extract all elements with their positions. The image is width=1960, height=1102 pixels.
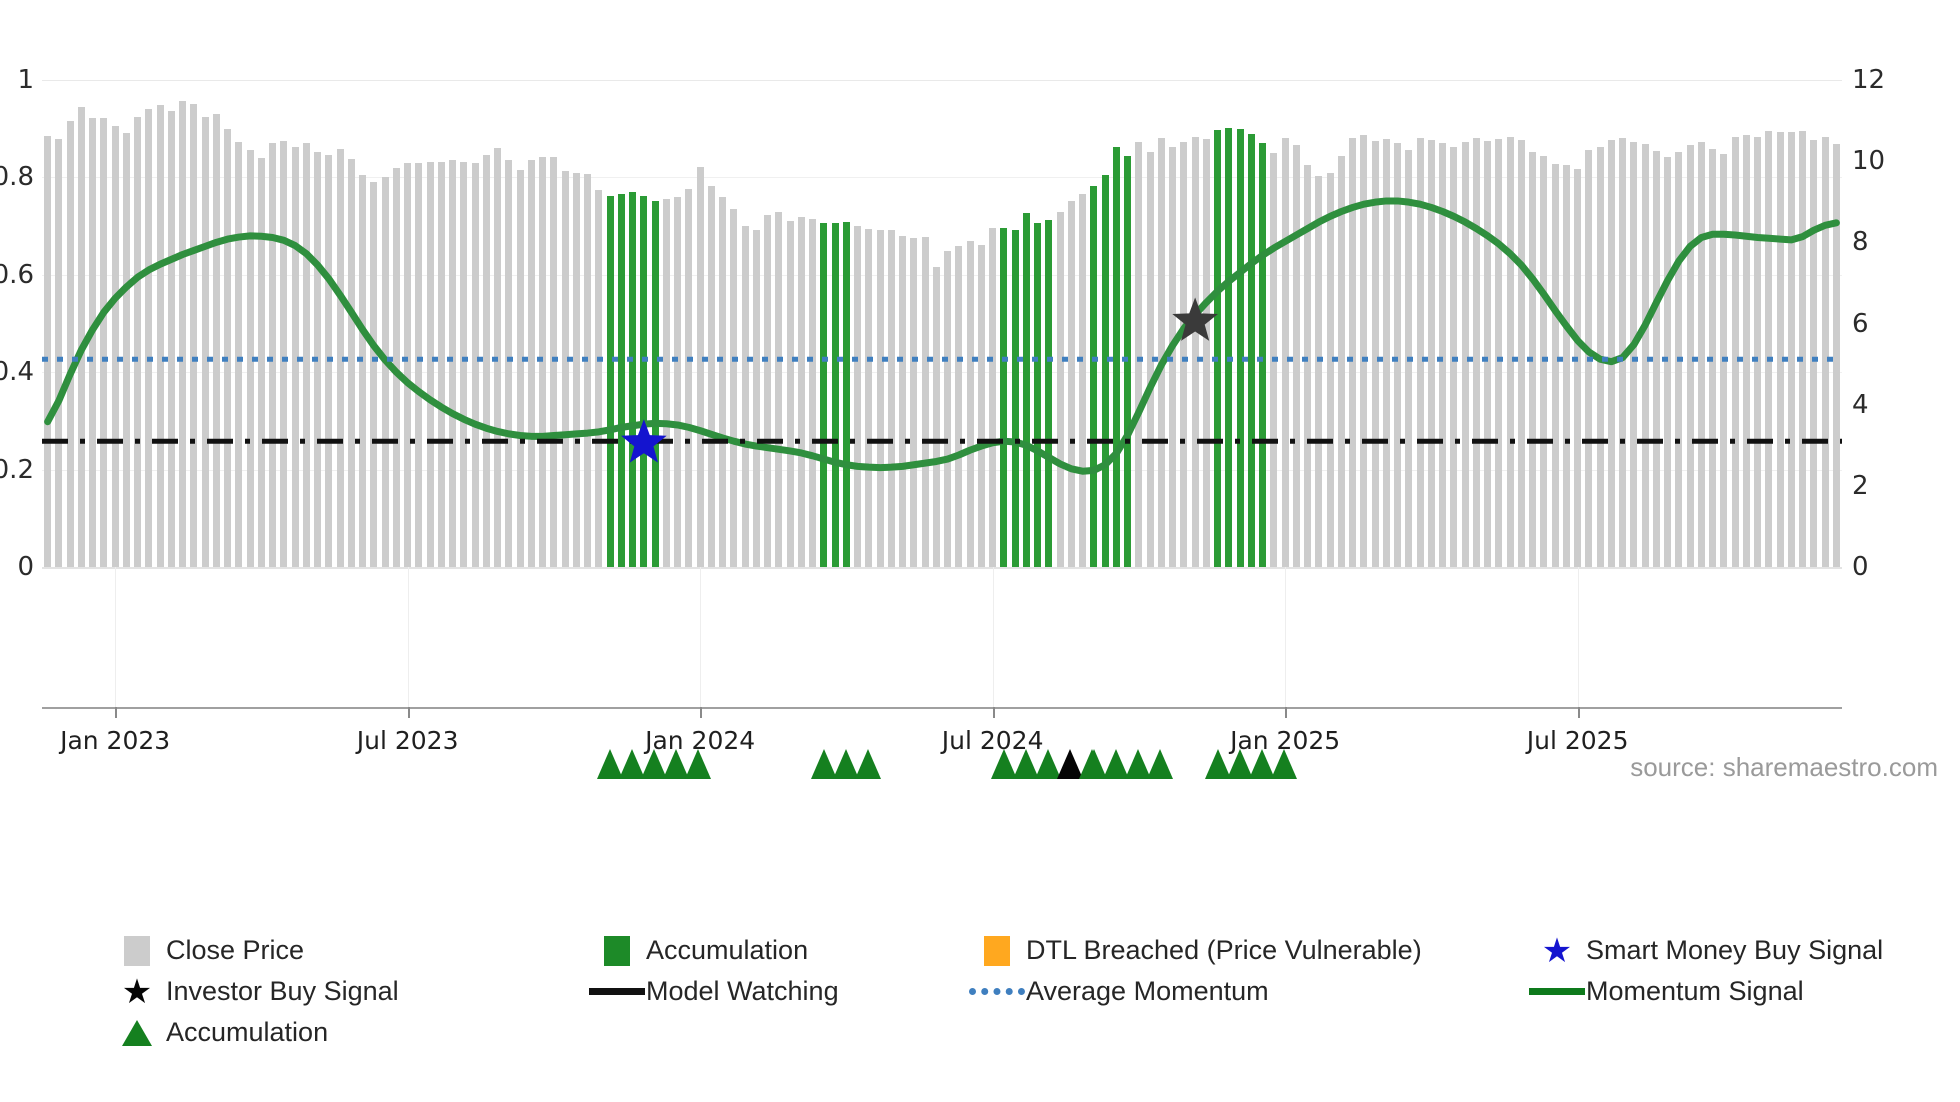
bar-accumulation	[607, 196, 614, 567]
bar-accumulation	[1214, 130, 1221, 567]
legend-item-investor-buy[interactable]: ★ Investor Buy Signal	[108, 971, 399, 1012]
axis-baseline	[42, 567, 1842, 569]
vertical-gridline	[993, 567, 994, 707]
bar-close-price	[573, 173, 580, 567]
bar-close-price	[1642, 144, 1649, 567]
bar-close-price	[674, 197, 681, 567]
bar-close-price	[78, 107, 85, 567]
bar-close-price	[325, 155, 332, 567]
bar-close-price	[1585, 150, 1592, 567]
star-icon: ★	[1528, 934, 1586, 968]
bar-close-price	[685, 189, 692, 567]
bar-close-price	[989, 228, 996, 567]
bar-close-price	[1417, 138, 1424, 567]
bar-close-price	[179, 101, 186, 567]
bar-close-price	[1293, 145, 1300, 567]
bar-close-price	[472, 163, 479, 567]
bar-close-price	[1698, 142, 1705, 567]
bar-close-price	[1630, 142, 1637, 567]
bar-close-price	[1169, 147, 1176, 567]
bar-close-price	[865, 229, 872, 567]
accumulation-triangle-marker	[855, 749, 881, 779]
bar-accumulation	[1012, 230, 1019, 567]
bar-close-price	[1360, 135, 1367, 567]
triangle-icon	[108, 1020, 166, 1046]
bar-close-price	[314, 152, 321, 567]
bar-close-price	[1057, 212, 1064, 567]
bar-close-price	[280, 141, 287, 567]
legend-label: Accumulation	[166, 1017, 328, 1048]
bar-close-price	[404, 163, 411, 567]
bar-close-price	[550, 157, 557, 567]
bar-accumulation	[1090, 186, 1097, 567]
bar-accumulation	[1023, 213, 1030, 567]
bar-close-price	[978, 245, 985, 567]
bar-close-price	[1327, 173, 1334, 567]
bar-close-price	[1180, 142, 1187, 567]
square-icon	[588, 936, 646, 966]
bar-accumulation	[1124, 156, 1131, 567]
bar-close-price	[730, 209, 737, 567]
bar-close-price	[427, 162, 434, 567]
bar-close-price	[787, 221, 794, 567]
vertical-gridline	[408, 567, 409, 707]
bar-close-price	[1732, 137, 1739, 567]
bar-close-price	[1462, 142, 1469, 567]
bar-close-price	[224, 129, 231, 567]
x-tick-label: Jul 2023	[357, 726, 459, 755]
accumulation-triangle-marker	[1147, 749, 1173, 779]
bar-close-price	[1563, 165, 1570, 567]
bar-close-price	[1192, 137, 1199, 568]
bar-accumulation	[1113, 147, 1120, 567]
bar-close-price	[798, 217, 805, 567]
bar-close-price	[1574, 169, 1581, 567]
y-tick-left: 0	[0, 552, 34, 582]
accumulation-marker-group	[811, 745, 881, 779]
x-tick	[408, 707, 410, 718]
bar-close-price	[742, 226, 749, 567]
bar-close-price	[134, 117, 141, 567]
bar-close-price	[393, 168, 400, 567]
x-tick-label: Jan 2024	[645, 726, 755, 755]
bar-close-price	[168, 111, 175, 567]
bar-close-price	[460, 162, 467, 567]
x-axis-line	[42, 707, 1842, 709]
bar-close-price	[944, 251, 951, 567]
bar-close-price	[157, 105, 164, 567]
bar-close-price	[1799, 131, 1806, 567]
bar-close-price	[100, 118, 107, 567]
dashed-line-icon	[588, 988, 646, 995]
legend-label: DTL Breached (Price Vulnerable)	[1026, 935, 1422, 966]
bar-close-price	[1810, 140, 1817, 567]
bar-close-price	[44, 136, 51, 567]
plot-area	[42, 80, 1842, 567]
bar-close-price	[449, 160, 456, 567]
bar-accumulation	[1000, 228, 1007, 567]
accumulation-marker-group	[1081, 745, 1173, 779]
x-tick	[993, 707, 995, 718]
bar-close-price	[483, 155, 490, 567]
bar-close-price	[1383, 139, 1390, 567]
bar-close-price	[1068, 201, 1075, 567]
bar-close-price	[1079, 194, 1086, 567]
bar-close-price	[1743, 135, 1750, 567]
bar-close-price	[1518, 140, 1525, 567]
bar-close-price	[337, 149, 344, 567]
bar-close-price	[539, 157, 546, 567]
bar-close-price	[190, 104, 197, 567]
legend-label: Close Price	[166, 935, 304, 966]
bar-close-price	[292, 147, 299, 567]
bar-close-price	[1372, 141, 1379, 567]
bar-accumulation	[652, 201, 659, 567]
bar-close-price	[955, 246, 962, 567]
vertical-gridline	[700, 567, 701, 707]
bar-close-price	[1608, 140, 1615, 567]
legend-item-smart-money[interactable]: ★ Smart Money Buy Signal	[1528, 930, 1883, 971]
y-tick-left: 0.4	[0, 357, 34, 387]
bar-close-price	[1203, 139, 1210, 567]
legend-item-accumulation-bar[interactable]: Accumulation	[588, 930, 808, 971]
y-tick-right: 6	[1852, 309, 1960, 339]
x-tick-label: Jan 2025	[1230, 726, 1340, 755]
x-tick	[1578, 707, 1580, 718]
bar-close-price	[1709, 149, 1716, 567]
bar-close-price	[258, 158, 265, 567]
bar-close-price	[595, 190, 602, 567]
star-icon: ★	[108, 975, 166, 1009]
y-tick-left: 0.6	[0, 260, 34, 290]
bar-close-price	[1428, 140, 1435, 567]
bar-accumulation	[1225, 128, 1232, 567]
bar-close-price	[55, 139, 62, 567]
y-tick-right: 10	[1852, 146, 1960, 176]
bar-close-price	[899, 236, 906, 567]
x-tick-label: Jan 2023	[60, 726, 170, 755]
bar-close-price	[123, 133, 130, 567]
bar-close-price	[877, 230, 884, 567]
bar-close-price	[1754, 137, 1761, 568]
bar-accumulation	[820, 223, 827, 567]
bar-close-price	[1720, 154, 1727, 567]
bar-close-price	[697, 167, 704, 567]
bar-close-price	[1439, 143, 1446, 567]
bar-close-price	[1315, 176, 1322, 567]
bar-close-price	[753, 230, 760, 567]
bar-close-price	[663, 199, 670, 567]
bar-close-price	[269, 143, 276, 567]
bar-close-price	[922, 237, 929, 567]
square-icon	[968, 936, 1026, 966]
y-tick-right: 8	[1852, 227, 1960, 257]
bar-close-price	[247, 150, 254, 567]
legend-item-model-watching[interactable]: Model Watching	[588, 971, 839, 1012]
x-tick	[1285, 707, 1287, 718]
bar-close-price	[1495, 139, 1502, 567]
y-tick-right: 12	[1852, 65, 1960, 95]
bar-close-price	[584, 174, 591, 567]
bar-close-price	[967, 241, 974, 567]
bar-close-price	[494, 148, 501, 567]
bar-accumulation	[843, 222, 850, 567]
vertical-gridline	[1578, 567, 1579, 707]
y-tick-right: 2	[1852, 471, 1960, 501]
bar-close-price	[517, 170, 524, 567]
bar-close-price	[1484, 141, 1491, 567]
bar-close-price	[235, 142, 242, 567]
chart-legend: Close Price Accumulation DTL Breached (P…	[108, 930, 1908, 1053]
bar-close-price	[370, 182, 377, 567]
bar-close-price	[1270, 153, 1277, 567]
bar-close-price	[809, 219, 816, 567]
bar-close-price	[1304, 165, 1311, 567]
bar-close-price	[1552, 164, 1559, 567]
dotted-line-icon	[968, 988, 1026, 995]
bar-close-price	[910, 238, 917, 567]
bar-accumulation	[1248, 134, 1255, 567]
bar-close-price	[382, 177, 389, 567]
bar-accumulation	[1259, 143, 1266, 567]
bar-close-price	[1529, 152, 1536, 567]
legend-label: Smart Money Buy Signal	[1586, 935, 1883, 966]
bar-close-price	[1349, 138, 1356, 567]
legend-label: Average Momentum	[1026, 976, 1269, 1007]
bar-close-price	[359, 175, 366, 567]
bar-close-price	[888, 230, 895, 567]
bar-close-price	[1282, 138, 1289, 567]
x-tick	[700, 707, 702, 718]
bar-close-price	[1135, 142, 1142, 567]
vertical-gridline	[1285, 567, 1286, 707]
bar-close-price	[1765, 131, 1772, 567]
y-tick-left: 0.2	[0, 455, 34, 485]
bar-close-price	[145, 109, 152, 567]
legend-item-accumulation-marker[interactable]: Accumulation	[108, 1012, 328, 1053]
bar-close-price	[1675, 152, 1682, 567]
bar-close-price	[1338, 156, 1345, 568]
bar-close-price	[213, 114, 220, 567]
legend-item-average-momentum[interactable]: Average Momentum	[968, 971, 1269, 1012]
bar-close-price	[1822, 137, 1829, 568]
chart-root: 10.80.60.40.20 121086420 Jan 2023Jul 202…	[0, 0, 1960, 1102]
bar-accumulation	[1237, 129, 1244, 567]
bar-close-price	[67, 121, 74, 567]
x-tick	[115, 707, 117, 718]
bar-close-price	[1619, 138, 1626, 567]
bar-close-price	[1597, 147, 1604, 567]
bar-close-price	[505, 160, 512, 567]
solid-line-icon	[1528, 988, 1586, 995]
y-tick-left: 1	[0, 65, 34, 95]
bar-accumulation	[618, 194, 625, 567]
bar-close-price	[1147, 152, 1154, 567]
bar-accumulation	[640, 196, 647, 567]
bar-series	[42, 80, 1842, 567]
square-icon	[108, 936, 166, 966]
bar-close-price	[854, 226, 861, 567]
vertical-gridline	[115, 567, 116, 707]
bar-close-price	[348, 159, 355, 567]
bar-close-price	[1507, 137, 1514, 568]
bar-accumulation	[1034, 223, 1041, 567]
bar-close-price	[1777, 132, 1784, 567]
legend-item-momentum-signal[interactable]: Momentum Signal	[1528, 971, 1804, 1012]
x-tick-label: Jul 2025	[1527, 726, 1629, 755]
bar-close-price	[528, 160, 535, 567]
y-tick-right: 0	[1852, 552, 1960, 582]
bar-accumulation	[1045, 220, 1052, 567]
x-tick-label: Jul 2024	[942, 726, 1044, 755]
legend-label: Model Watching	[646, 976, 839, 1007]
bar-close-price	[719, 197, 726, 567]
y-tick-left: 0.8	[0, 162, 34, 192]
bar-close-price	[1653, 151, 1660, 567]
bar-close-price	[1687, 145, 1694, 567]
bar-close-price	[202, 117, 209, 567]
bar-accumulation	[1102, 175, 1109, 567]
bar-accumulation	[832, 223, 839, 567]
bar-accumulation	[629, 192, 636, 567]
legend-item-dtl-breached[interactable]: DTL Breached (Price Vulnerable)	[968, 930, 1422, 971]
bar-close-price	[112, 126, 119, 567]
bar-close-price	[764, 215, 771, 567]
bar-close-price	[1473, 138, 1480, 567]
bar-close-price	[89, 118, 96, 567]
y-tick-right: 4	[1852, 390, 1960, 420]
bar-close-price	[1664, 157, 1671, 567]
source-note: source: sharemaestro.com	[1630, 752, 1938, 783]
bar-close-price	[415, 163, 422, 567]
bar-close-price	[708, 186, 715, 567]
legend-label: Momentum Signal	[1586, 976, 1804, 1007]
bar-close-price	[1394, 143, 1401, 567]
legend-label: Accumulation	[646, 935, 808, 966]
legend-item-close-price[interactable]: Close Price	[108, 930, 304, 971]
bar-close-price	[562, 171, 569, 567]
bar-close-price	[933, 267, 940, 567]
bar-close-price	[1158, 138, 1165, 567]
bar-close-price	[1450, 147, 1457, 567]
legend-label: Investor Buy Signal	[166, 976, 399, 1007]
bar-close-price	[1405, 150, 1412, 567]
bar-close-price	[1788, 132, 1795, 567]
bar-close-price	[303, 143, 310, 567]
bar-close-price	[1833, 144, 1840, 567]
bar-close-price	[1540, 156, 1547, 567]
bar-close-price	[438, 162, 445, 567]
bar-close-price	[775, 212, 782, 567]
